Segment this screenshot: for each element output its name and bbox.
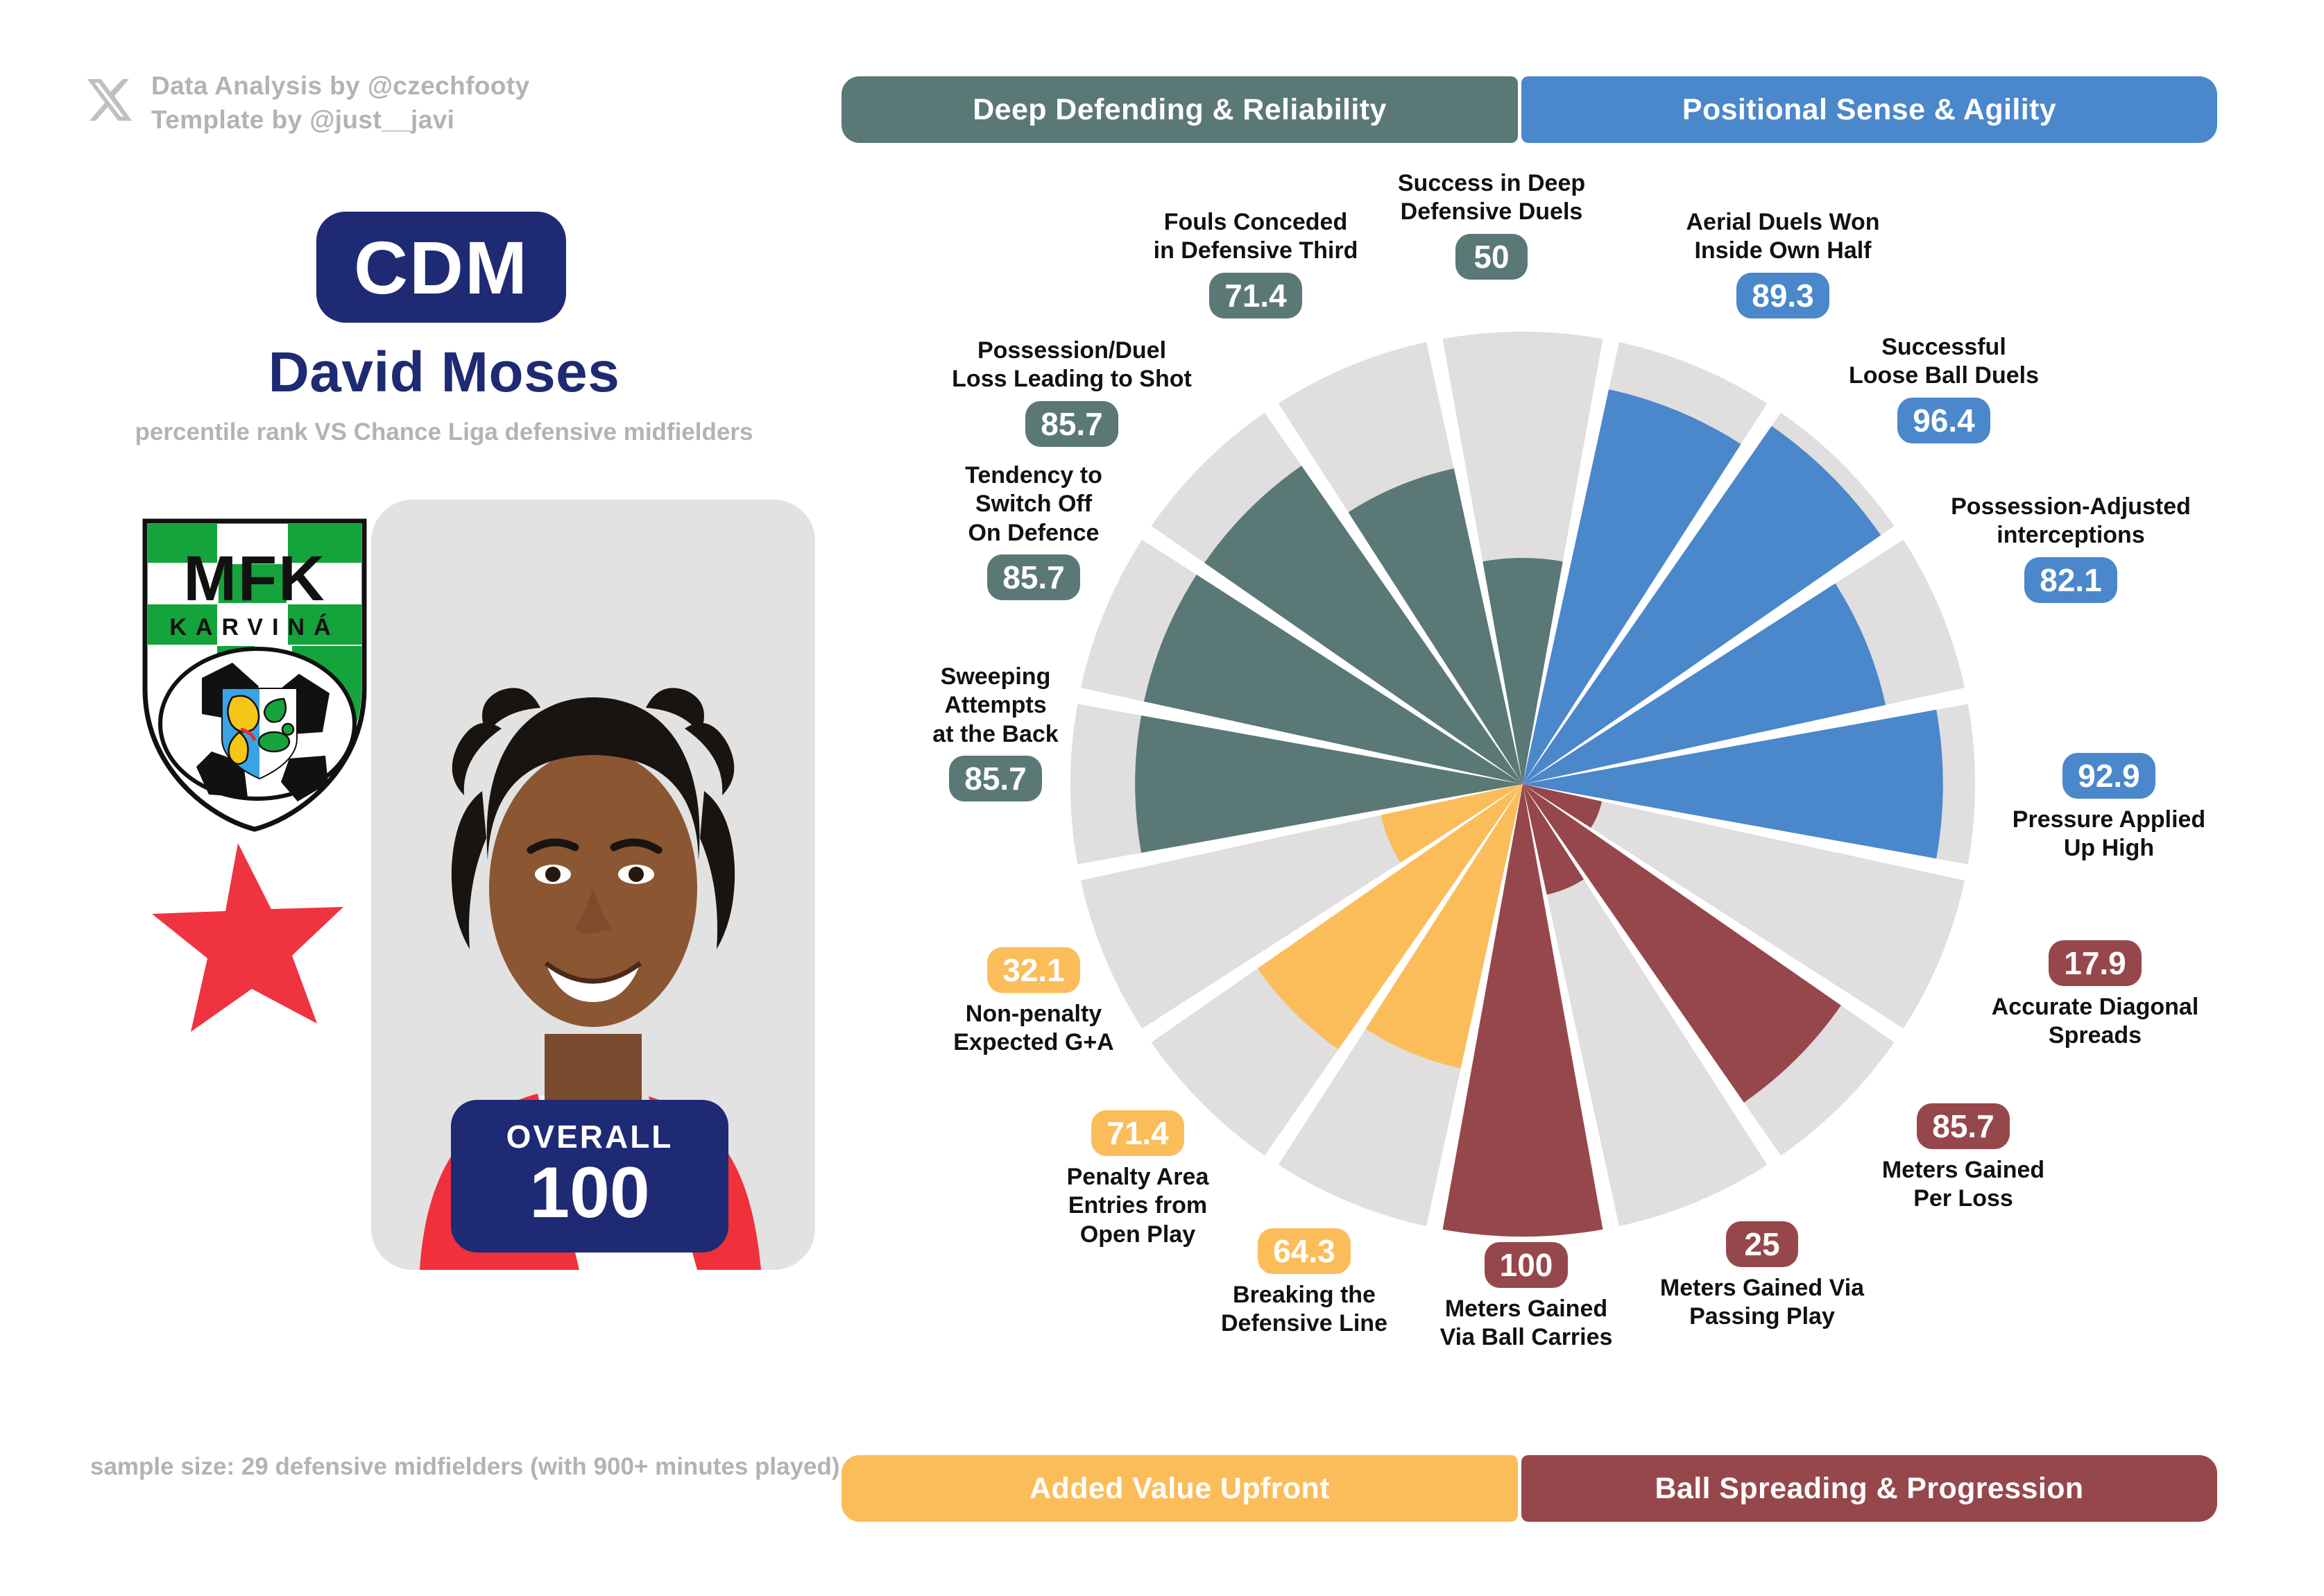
credit-line-template: Template by @just__javi (151, 103, 530, 137)
sample-size-note: sample size: 29 defensive midfielders (w… (90, 1450, 840, 1484)
metric-label: Fouls Conceded in Defensive Third (1154, 208, 1358, 266)
metric-label: Tendency to Switch Off On Defence (965, 461, 1102, 547)
metric-successful-loose-ball-duels: Successful Loose Ball Duels 96.4 (1805, 333, 2083, 443)
overall-label: OVERALL (506, 1121, 674, 1153)
metric-value: 32.1 (987, 947, 1080, 993)
overall-value: 100 (529, 1155, 650, 1231)
metric-possession-duel-loss-leading-to-shot: Possession/Duel Loss Leading to Shot 85.… (909, 337, 1235, 447)
metric-penalty-area-entries-from-open-play: 71.4 Penalty Area Entries from Open Play (992, 1110, 1283, 1249)
metric-possession-adjusted-interceptions: Possession-Adjusted interceptions 82.1 (1915, 493, 2227, 603)
player-subtitle: percentile rank VS Chance Liga defensive… (83, 416, 805, 448)
metric-value: 89.3 (1736, 273, 1829, 319)
metric-value: 96.4 (1897, 398, 1990, 443)
metric-value: 50 (1455, 234, 1528, 280)
metric-value: 85.7 (1917, 1103, 2010, 1149)
metric-value: 71.4 (1091, 1110, 1184, 1156)
metric-fouls-conceded-in-defensive-third: Fouls Conceded in Defensive Third 71.4 (1103, 208, 1408, 319)
metric-value: 17.9 (2049, 940, 2142, 986)
metric-label: Accurate Diagonal Spreads (1992, 993, 2199, 1051)
svg-text:KARVINÁ: KARVINÁ (169, 614, 339, 640)
metric-value: 82.1 (2024, 557, 2117, 603)
metric-meters-gained-per-loss: 85.7 Meters Gained Per Loss (1818, 1103, 2109, 1214)
credit-lines: Data Analysis by @czechfooty Template by… (151, 69, 530, 137)
overall-rating-badge: OVERALL 100 (451, 1100, 728, 1253)
metric-label: Meters Gained Per Loss (1882, 1156, 2044, 1214)
metric-value: 92.9 (2062, 753, 2155, 799)
metric-accurate-diagonal-spreads: 17.9 Accurate Diagonal Spreads (1949, 940, 2241, 1051)
metric-value: 85.7 (987, 554, 1080, 600)
metric-aerial-duels-won-inside-own-half: Aerial Duels Won Inside Own Half 89.3 (1644, 208, 1922, 319)
page-title: David Moses (83, 340, 805, 405)
metric-label: Non-penalty Expected G+A (953, 1000, 1113, 1058)
metric-label: Meters Gained Via Ball Carries (1440, 1295, 1613, 1352)
credits-block: Data Analysis by @czechfooty Template by… (83, 69, 530, 137)
metric-label: Pressure Applied Up High (2013, 806, 2205, 863)
metric-value: 25 (1726, 1221, 1798, 1267)
metric-label: Breaking the Defensive Line (1221, 1281, 1387, 1339)
metric-label: Success in Deep Defensive Duels (1398, 169, 1585, 227)
metric-label: Possession-Adjusted interceptions (1951, 493, 2191, 550)
metric-label: Meters Gained Via Passing Play (1660, 1274, 1864, 1332)
metric-tendency-to-switch-off-on-defence: Tendency to Switch Off On Defence 85.7 (888, 461, 1179, 600)
metric-label: Penalty Area Entries from Open Play (1067, 1163, 1209, 1249)
metric-label: Possession/Duel Loss Leading to Shot (952, 337, 1192, 394)
metric-value: 100 (1485, 1242, 1569, 1288)
metric-pressure-applied-up-high: 92.9 Pressure Applied Up High (1963, 753, 2255, 863)
legend-deep-defending[interactable]: Deep Defending & Reliability (841, 76, 1518, 143)
position-badge: CDM (316, 212, 566, 323)
legend-ball-spreading[interactable]: Ball Spreading & Progression (1521, 1455, 2217, 1522)
metric-label: Sweeping Attempts at the Back (932, 663, 1058, 749)
x-logo-icon (83, 75, 133, 125)
credit-line-analysis: Data Analysis by @czechfooty (151, 69, 530, 103)
metric-sweeping-attempts-at-the-back: Sweeping Attempts at the Back 85.7 (850, 663, 1141, 801)
metric-value: 85.7 (949, 756, 1042, 801)
svg-text:MFK: MFK (183, 543, 325, 614)
legend-added-value[interactable]: Added Value Upfront (841, 1455, 1518, 1522)
metric-value: 71.4 (1209, 273, 1302, 319)
metric-label: Aerial Duels Won Inside Own Half (1686, 208, 1880, 266)
metric-non-penalty-expected-ga: 32.1 Non-penalty Expected G+A (888, 947, 1179, 1058)
metric-value: 85.7 (1025, 401, 1118, 447)
legend-positional-sense[interactable]: Positional Sense & Agility (1521, 76, 2217, 143)
metric-label: Successful Loose Ball Duels (1849, 333, 2039, 391)
